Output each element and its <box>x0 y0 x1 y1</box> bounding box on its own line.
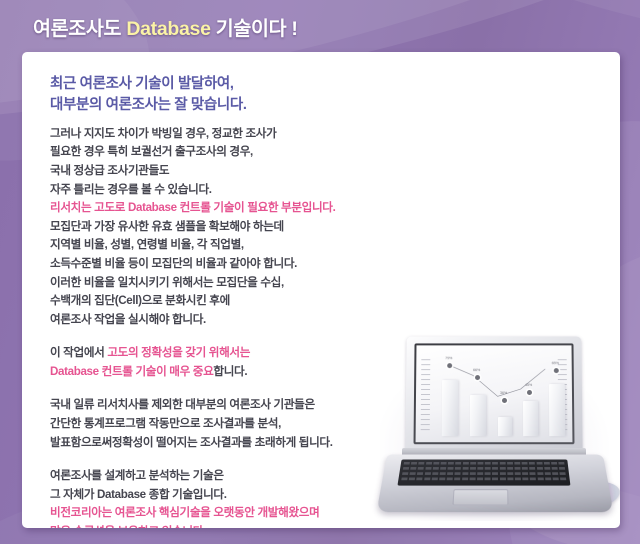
page-title: 여론조사도 Database 기술이다 ! <box>33 12 298 41</box>
text-line: 그러나 지지도 차이가 박빙일 경우, 정교한 조사가 <box>50 125 418 144</box>
cd-disc-back <box>564 478 620 511</box>
paragraph-block-4: 국내 일류 리서치사를 제외한 대부분의 여론조사 기관들은 간단한 통계프로그… <box>50 396 418 452</box>
paragraph-block-2: 모집단과 가장 유사한 유효 샘플을 확보해야 하는데 지역별 비율, 성별, … <box>50 218 418 330</box>
chart-trend-line <box>416 345 573 433</box>
chart-bar <box>442 380 458 436</box>
laptop-screen-content: 79% 66% 36% 45% 65% <box>416 345 573 442</box>
text-line: 필요한 경우 특히 보궐선거 출구조사의 경우, <box>50 143 418 162</box>
keyboard-row <box>401 478 567 481</box>
content-panel: 79% 66% 36% 45% 65% <box>22 52 620 528</box>
poster-root: 여론조사도 Database 기술이다 ! <box>0 0 640 544</box>
chart-bar <box>470 395 486 436</box>
laptop-trackpad <box>452 489 508 505</box>
text-line: 발표함으로써정확성이 떨어지는 조사결과를 초래하게 됩니다. <box>50 434 418 453</box>
chart-point-label: 36% <box>500 391 507 395</box>
laptop-keyboard <box>397 459 570 485</box>
text-line: 이 작업에서 고도의 정확성을 갖기 위해서는 <box>50 344 418 363</box>
body-text: 최근 여론조사 기술이 발달하여, 대부분의 여론조사는 잘 맞습니다. 그러나… <box>22 52 418 528</box>
chart-bar <box>523 401 538 436</box>
keyboard-row <box>402 472 566 475</box>
laptop-screen: 79% 66% 36% 45% 65% <box>414 343 575 444</box>
text-segment-dark: 합니다. <box>213 365 247 378</box>
screen-chart: 79% 66% 36% 45% 65% <box>416 345 573 442</box>
text-line: 이러한 비율을 일치시키기 위해서는 모집단을 수십, <box>50 274 418 293</box>
keyboard-row <box>404 462 565 465</box>
page-title-suffix: 기술이다 ! <box>211 18 298 40</box>
chart-point-label: 79% <box>445 356 452 360</box>
text-line-highlight: 비전코리아는 여론조사 핵심기술을 오랫동안 개발해왔으며 <box>50 504 418 523</box>
page-title-accent: Database <box>126 18 210 40</box>
text-line: 지역별 비율, 성별, 연령별 비율, 각 직업별, <box>50 236 418 255</box>
keyboard-row <box>403 467 566 470</box>
chart-bar <box>549 384 565 436</box>
text-line-highlight: 많은 솔루션을 보유하고 있습니다. <box>50 523 418 528</box>
paragraph-block-1: 그러나 지지도 차이가 박빙일 경우, 정교한 조사가 필요한 경우 특히 보궐… <box>50 125 418 199</box>
laptop-hinge <box>402 448 586 457</box>
text-line: 그 자체가 Database 종합 기술입니다. <box>50 486 418 505</box>
chart-point-label: 45% <box>525 383 532 387</box>
chart-point <box>447 363 452 368</box>
chart-bar <box>498 417 512 436</box>
lead-heading: 최근 여론조사 기술이 발달하여, 대부분의 여론조사는 잘 맞습니다. <box>50 74 418 116</box>
chart-point <box>502 398 507 403</box>
text-line: 여론조사 작업을 실시해야 합니다. <box>50 311 418 330</box>
chart-point <box>475 375 480 380</box>
highlight-line-1: 리서치는 고도로 Database 컨트롤 기술이 필요한 부분입니다. <box>50 199 418 218</box>
text-line: 간단한 통계프로그램 작동만으로 조사결과를 분석, <box>50 415 418 434</box>
text-segment-pink: Database 컨트롤 기술이 매우 중요 <box>50 365 213 378</box>
page-title-prefix: 여론조사도 <box>33 18 126 40</box>
text-line: 국내 정상급 조사기관들도 <box>50 162 418 181</box>
spacer <box>50 452 418 467</box>
lead-line: 최근 여론조사 기술이 발달하여, <box>50 74 418 95</box>
chart-point-label: 65% <box>552 361 559 365</box>
text-line: 모집단과 가장 유사한 유효 샘플을 확보해야 하는데 <box>50 218 418 237</box>
cd-disc-front <box>553 478 603 506</box>
text-line: 자주 틀리는 경우를 볼 수 있습니다. <box>50 181 418 200</box>
chart-axis-right <box>558 359 568 434</box>
spacer <box>50 329 418 344</box>
text-line: 수백개의 집단(Cell)으로 분화시킨 후에 <box>50 292 418 311</box>
text-line: Database 컨트롤 기술이 매우 중요합니다. <box>50 363 418 382</box>
text-segment-pink: 고도의 정확성을 갖기 위해서는 <box>107 346 250 359</box>
paragraph-block-5: 여론조사를 설계하고 분석하는 기술은 그 자체가 Database 종합 기술… <box>50 467 418 528</box>
paragraph-block-3: 이 작업에서 고도의 정확성을 갖기 위해서는 Database 컨트롤 기술이… <box>50 344 418 381</box>
chart-point <box>554 368 559 373</box>
header-bar: 여론조사도 Database 기술이다 ! <box>0 0 640 52</box>
spacer <box>50 381 418 396</box>
text-segment-dark: 이 작업에서 <box>50 346 107 359</box>
chart-axis-left <box>421 359 431 434</box>
text-line-highlight: 리서치는 고도로 Database 컨트롤 기술이 필요한 부분입니다. <box>50 199 418 218</box>
text-line: 여론조사를 설계하고 분석하는 기술은 <box>50 467 418 486</box>
chart-point <box>527 390 532 395</box>
lead-line: 대부분의 여론조사는 잘 맞습니다. <box>50 95 418 116</box>
text-line: 소득수준별 비율 등이 모집단의 비율과 같아야 합니다. <box>50 255 418 274</box>
chart-point-label: 66% <box>473 368 480 372</box>
laptop-lid: 79% 66% 36% 45% 65% <box>405 337 582 456</box>
text-line: 국내 일류 리서치사를 제외한 대부분의 여론조사 기관들은 <box>50 396 418 415</box>
